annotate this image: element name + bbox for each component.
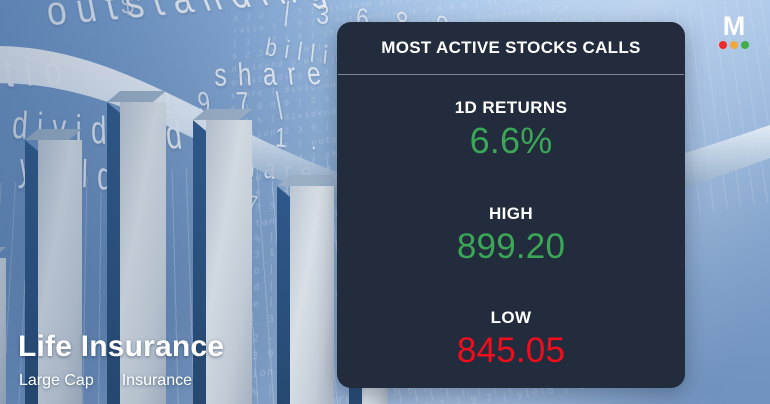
card-divider [338,74,684,75]
card-title: MOST ACTIVE STOCKS CALLS [337,22,685,74]
metric-value: 6.6% [337,119,685,163]
metric-1d-returns: 1D RETURNS 6.6% [337,97,685,163]
stock-tag-cap: Large Cap [19,372,94,390]
screenshot-root: $ 1 2 . 4 5 | dividend yield 3.14 | bill… [0,0,770,404]
stock-tags: Large Cap Insurance [19,372,192,390]
most-active-stocks-card: MOST ACTIVE STOCKS CALLS 1D RETURNS 6.6%… [337,22,685,388]
metric-label: LOW [337,307,685,329]
metric-label: 1D RETURNS [337,97,685,119]
metric-value: 845.05 [337,329,685,373]
metric-high: HIGH 899.20 [337,203,685,269]
metric-low: LOW 845.05 [337,307,685,373]
metric-value: 899.20 [337,225,685,269]
metric-label: HIGH [337,203,685,225]
stock-name: Life Insurance [18,330,224,364]
stock-tag-sector: Insurance [122,372,192,390]
card-body: 1D RETURNS 6.6% HIGH 899.20 LOW 845.05 [337,75,685,373]
